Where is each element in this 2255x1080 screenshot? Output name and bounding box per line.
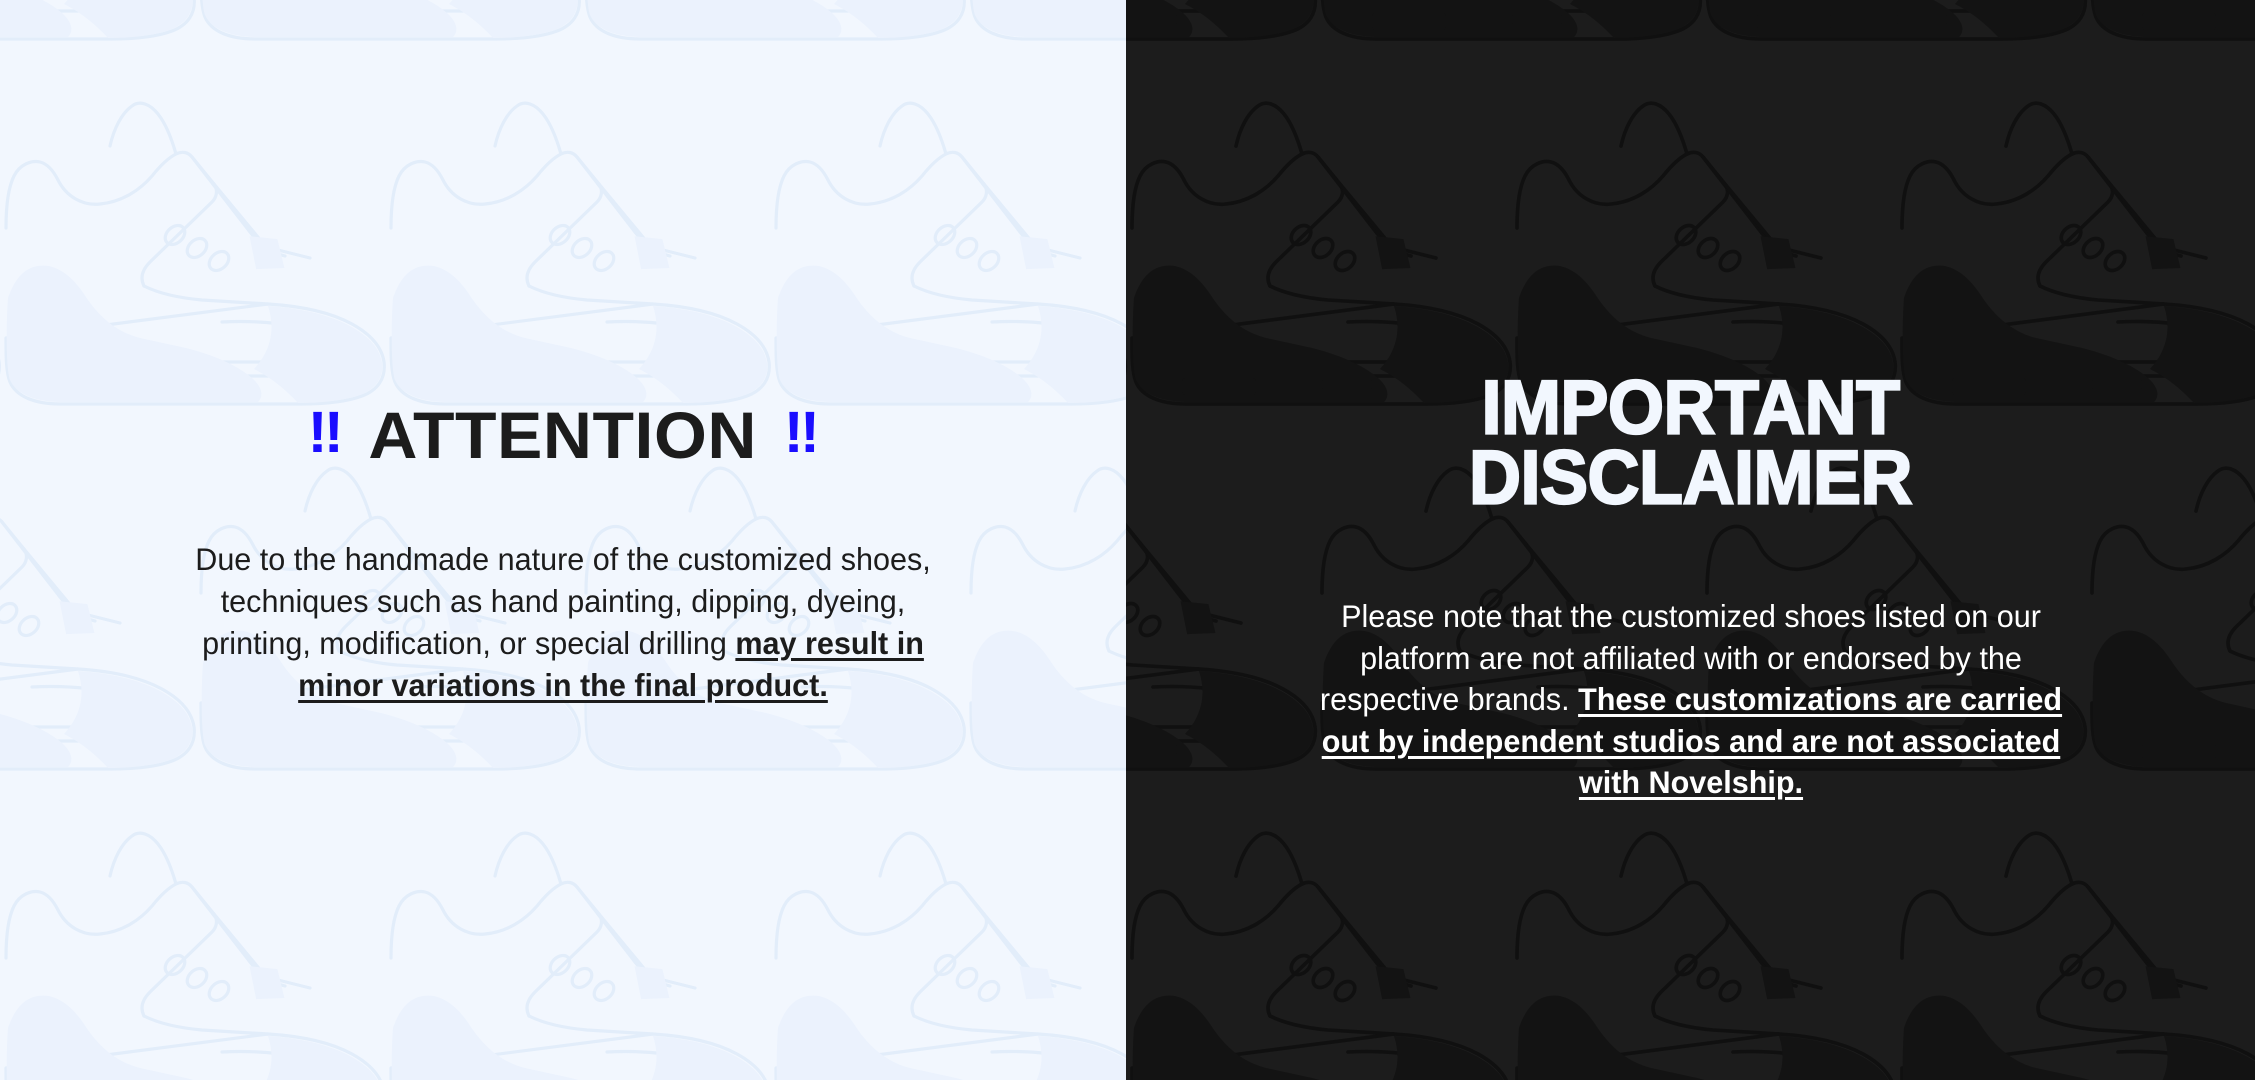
attention-heading-text: ATTENTION xyxy=(369,402,758,468)
attention-heading: ‼ ATTENTION ‼ xyxy=(308,402,818,468)
double-exclamation-icon-left: ‼ xyxy=(308,404,342,462)
attention-content: ‼ ATTENTION ‼ Due to the handmade nature… xyxy=(0,0,1126,1080)
attention-panel: ‼ ATTENTION ‼ Due to the handmade nature… xyxy=(0,0,1126,1080)
disclaimer-heading-line1: IMPORTANT xyxy=(1469,373,1912,443)
attention-body: Due to the handmade nature of the custom… xyxy=(180,539,946,707)
disclaimer-heading-line2: DISCLAIMER xyxy=(1469,443,1912,513)
disclaimer-content: IMPORTANT DISCLAIMER Please note that th… xyxy=(1126,0,2255,1080)
disclaimer-body: Please note that the customized shoes li… xyxy=(1298,596,2084,804)
disclaimer-panel: IMPORTANT DISCLAIMER Please note that th… xyxy=(1126,0,2255,1080)
disclaimer-heading: IMPORTANT DISCLAIMER xyxy=(1469,373,1912,513)
double-exclamation-icon-right: ‼ xyxy=(784,404,818,462)
disclaimer-banner: ‼ ATTENTION ‼ Due to the handmade nature… xyxy=(0,0,2255,1080)
